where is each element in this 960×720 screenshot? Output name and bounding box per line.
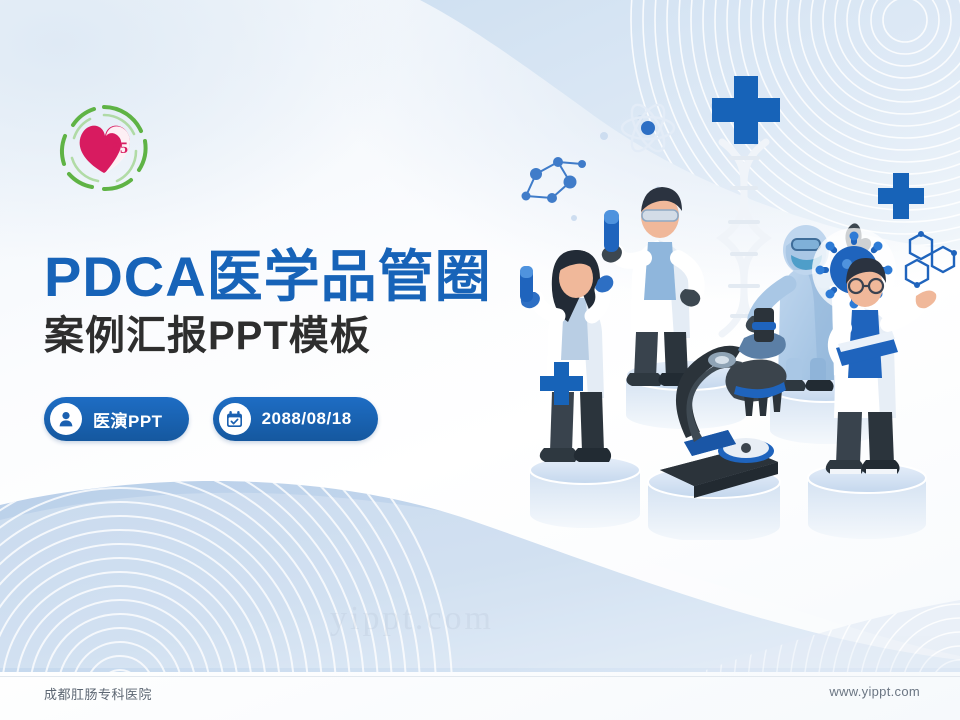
test-tube-icon — [604, 210, 619, 252]
watermark-text: yippt.com — [330, 600, 710, 646]
footer-organization: 成都肛肠专科医院 — [44, 684, 152, 703]
hexagon-molecule-icon — [906, 234, 954, 285]
calendar-icon — [219, 403, 251, 435]
page-subtitle: 案例汇报PPT模板 — [44, 314, 604, 359]
logo-center-text: 185 — [104, 140, 128, 157]
page-title: PDCA医学品管圈 — [44, 248, 604, 306]
molecule-icon — [522, 157, 587, 203]
medical-cross-icon-large — [712, 76, 780, 144]
male-scientist-figure — [602, 187, 701, 386]
meta-badges: 医演PPT 2088/08/18 — [44, 397, 378, 441]
date-label: 2088/08/18 — [262, 409, 352, 429]
presentation-slide: 185 — [0, 0, 960, 720]
footer-website: www.yippt.com — [829, 684, 920, 699]
date-badge[interactable]: 2088/08/18 — [213, 397, 378, 441]
footer-divider — [0, 676, 960, 677]
atom-icon — [622, 100, 674, 156]
author-label: 医演PPT — [93, 407, 163, 432]
medical-cross-icon-small — [878, 173, 924, 219]
title-block: PDCA医学品管圈 案例汇报PPT模板 — [44, 248, 604, 359]
person-icon — [50, 403, 82, 435]
hospital-logo: 185 — [47, 98, 162, 198]
author-badge[interactable]: 医演PPT — [44, 397, 189, 441]
